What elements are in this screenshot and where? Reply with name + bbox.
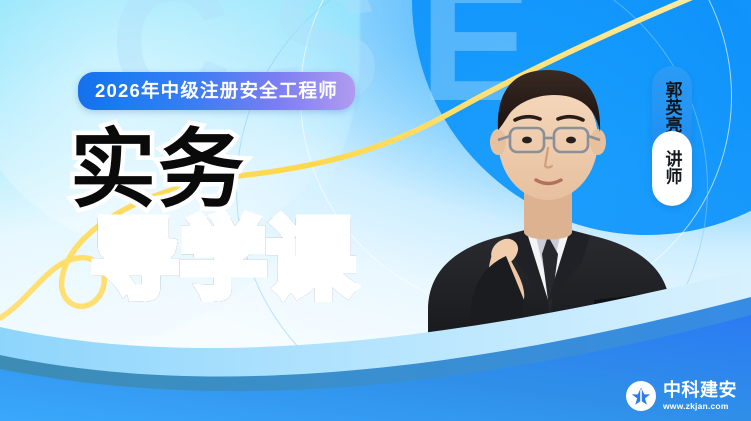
brand-name: 中科建安: [663, 381, 737, 399]
instructor-title: 讲师: [652, 131, 692, 206]
page-title: 实务 导学课: [70, 128, 356, 303]
brand-text: 中科建安 www.zkjan.com: [663, 381, 737, 411]
headline-line-1: 实务: [70, 128, 356, 212]
brand-logo[interactable]: 中科建安 www.zkjan.com: [620, 377, 743, 415]
course-banner: CSE: [0, 0, 751, 421]
instructor-badge: 郭英亮 讲师: [652, 66, 692, 206]
star-circle-icon: [626, 381, 656, 411]
brand-url: www.zkjan.com: [663, 402, 737, 411]
headline-line-2: 导学课: [92, 218, 356, 302]
year-badge: 2026年中级注册安全工程师: [78, 72, 355, 110]
